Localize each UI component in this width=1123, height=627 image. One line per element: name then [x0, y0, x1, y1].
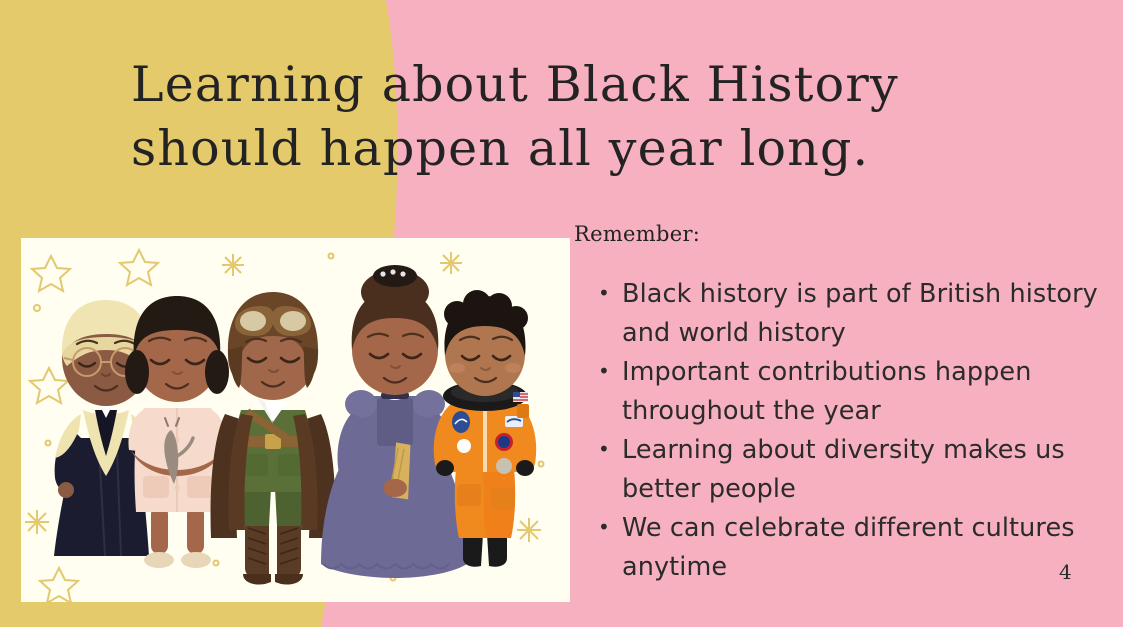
remember-heading: Remember:: [574, 222, 700, 246]
list-item: Important contributions happen throughou…: [592, 353, 1123, 431]
presentation-slide: Learning about Black History should happ…: [0, 0, 1123, 627]
list-item: Learning about diversity makes us better…: [592, 431, 1123, 509]
illustration-canvas: [21, 238, 570, 602]
key-points-list: Black history is part of British history…: [592, 275, 1123, 587]
slide-number: 4: [1059, 560, 1072, 584]
mission-patch: [452, 411, 470, 433]
list-item: Black history is part of British history…: [592, 275, 1123, 353]
page-title: Learning about Black History should happ…: [131, 53, 1031, 181]
historical-figures-illustration: [21, 238, 570, 602]
list-item: We can celebrate different cultures anyt…: [592, 509, 1123, 587]
